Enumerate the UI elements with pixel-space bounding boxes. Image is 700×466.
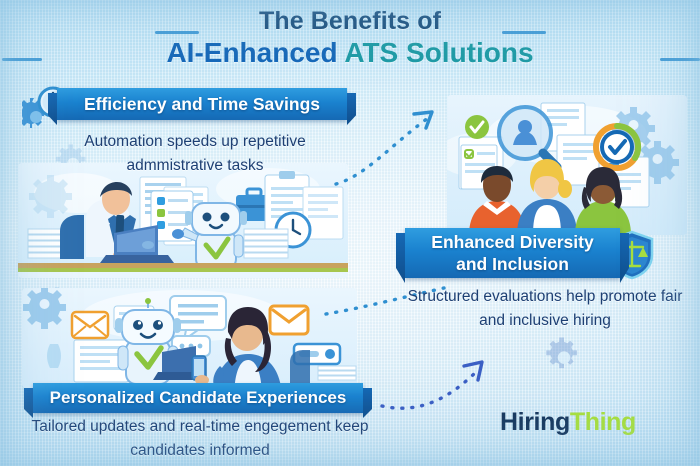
arrow-personalization-to-diversity: [378, 352, 503, 414]
title-ats-solutions: ATS Solutions: [344, 37, 533, 68]
benefit-banner-personalization[interactable]: Personalized Candidate Experiences: [33, 383, 363, 413]
title-rule-right-upper: [502, 31, 546, 34]
diverse-candidates-with-magnifier-illustration: [447, 95, 687, 235]
title-rule-left-upper: [155, 31, 199, 34]
benefit-banner-label-line1: Enhanced Diversity: [431, 232, 593, 252]
benefit-banner-label: Personalized Candidate Experiences: [50, 388, 347, 408]
benefit-description-personalization: Tailored updates and real-time engegemen…: [30, 415, 370, 463]
benefit-banner-label: Efficiency and Time Savings: [84, 94, 320, 115]
brand-logo-hiring: Hiring: [500, 408, 570, 436]
poster-title: The Benefits of AI-Enhanced ATS Solution…: [0, 6, 700, 74]
benefit-banner-label: Enhanced Diversity and Inclusion: [431, 231, 593, 275]
title-ai-enhanced: AI-Enhanced: [166, 37, 344, 68]
title-line-2: AI-Enhanced ATS Solutions: [0, 36, 700, 74]
ribbon-fold-right: [363, 388, 372, 418]
infographic-poster: The Benefits of AI-Enhanced ATS Solution…: [0, 0, 700, 466]
ribbon-fold-left: [396, 233, 405, 283]
title-rule-left-lower: [2, 58, 42, 61]
title-rule-right-lower: [660, 58, 700, 61]
ribbon-fold-left: [24, 388, 33, 418]
benefit-banner-label-line2: and Inclusion: [456, 254, 569, 274]
background-gear-icon: [540, 336, 588, 384]
benefit-description-diversity: Structured evaluations help promote fair…: [395, 285, 695, 333]
check-badge: [465, 115, 489, 139]
mail-icon: [270, 306, 308, 334]
recruiter-at-laptop-with-robot-illustration: [18, 163, 348, 278]
benefit-description-efficiency: Automation speeds up repetitive admmistr…: [35, 130, 355, 178]
benefit-banner-efficiency[interactable]: Efficiency and Time Savings: [57, 88, 347, 120]
brand-logo-thing: Thing: [570, 408, 636, 436]
progress-check-icon: [596, 126, 638, 168]
benefit-banner-diversity[interactable]: Enhanced Diversity and Inclusion: [405, 228, 620, 278]
robot-and-candidate-messaging-illustration: [22, 288, 357, 388]
brand-logo[interactable]: HiringThing: [500, 408, 636, 437]
title-line-1: The Benefits of: [0, 6, 700, 36]
mail-icon: [72, 312, 108, 338]
